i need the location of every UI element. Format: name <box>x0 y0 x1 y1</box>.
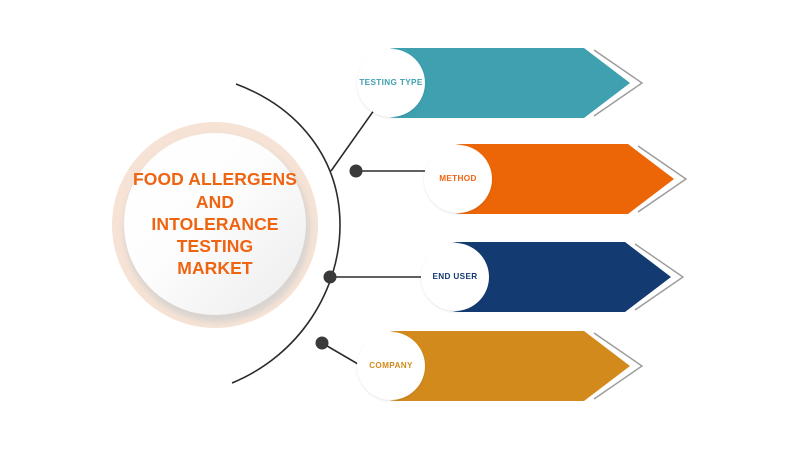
branch-label-bubble-company[interactable]: COMPANY <box>357 332 425 400</box>
branch-label-bubble-end-user[interactable]: END USER <box>421 243 489 311</box>
infographic-canvas: FOOD ALLERGENS AND INTOLERANCE TESTING M… <box>0 0 800 450</box>
branch-label-text: TESTING TYPE <box>359 78 422 87</box>
branch-label-bubble-testing-type[interactable]: TESTING TYPE <box>357 49 425 117</box>
branch-label-text: END USER <box>432 272 477 281</box>
connector-node-top <box>350 165 363 178</box>
connector-node-middle <box>324 271 337 284</box>
branch-label-text: METHOD <box>439 174 477 183</box>
connector-node-bottom <box>316 337 329 350</box>
branch-label-text: COMPANY <box>369 361 413 370</box>
center-hub: FOOD ALLERGENS AND INTOLERANCE TESTING M… <box>124 133 306 315</box>
center-hub-title: FOOD ALLERGENS AND INTOLERANCE TESTING M… <box>124 168 306 279</box>
branch-label-bubble-method[interactable]: METHOD <box>424 145 492 213</box>
